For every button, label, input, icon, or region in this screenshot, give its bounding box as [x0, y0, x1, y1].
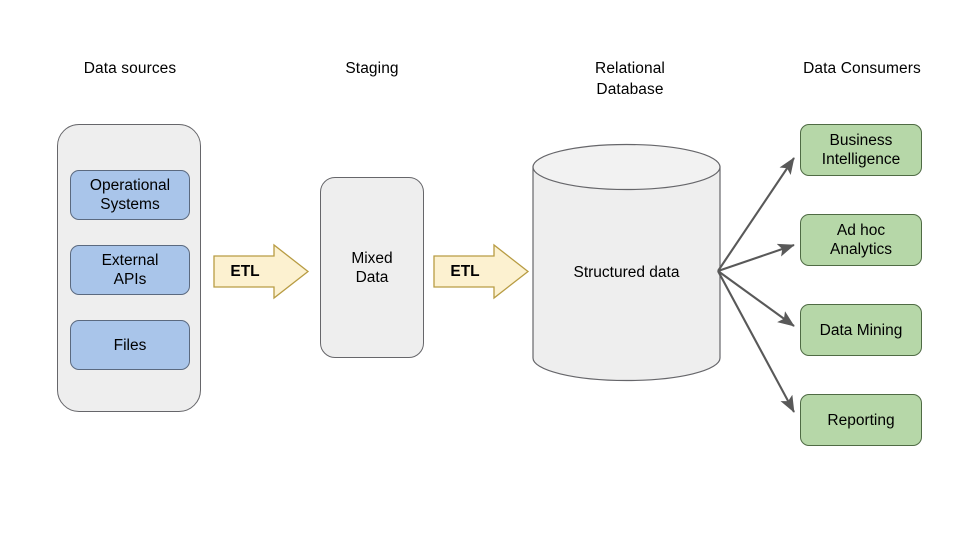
consumer-box-reporting[interactable]: [800, 394, 922, 446]
consumer-box-data-mining[interactable]: [800, 304, 922, 356]
source-box-files[interactable]: [70, 320, 190, 370]
consumer-box-business-intelligence[interactable]: [800, 124, 922, 176]
column-header-relational-database: Relational Database: [530, 58, 730, 100]
consumer-box-ad-hoc-analytics[interactable]: [800, 214, 922, 266]
connector-to-reporting: [718, 271, 794, 412]
source-box-external-apis[interactable]: [70, 245, 190, 295]
column-header-data-sources: Data sources: [30, 58, 230, 79]
connector-to-data-mining: [718, 271, 794, 326]
etl-arrow-1-shape: [214, 245, 308, 298]
column-header-data-consumers: Data Consumers: [762, 58, 960, 79]
staging-box-mixed-data[interactable]: [320, 177, 424, 358]
etl-arrow-2-shape: [434, 245, 528, 298]
column-header-staging: Staging: [272, 58, 472, 79]
connector-to-business-intelligence: [718, 158, 794, 271]
diagram-canvas: Data sources Staging Relational Database…: [0, 0, 960, 540]
source-box-operational-systems[interactable]: [70, 170, 190, 220]
consumer-connectors: [718, 158, 794, 412]
structured-data-cylinder: [533, 145, 720, 381]
connector-to-ad-hoc-analytics: [718, 245, 794, 271]
